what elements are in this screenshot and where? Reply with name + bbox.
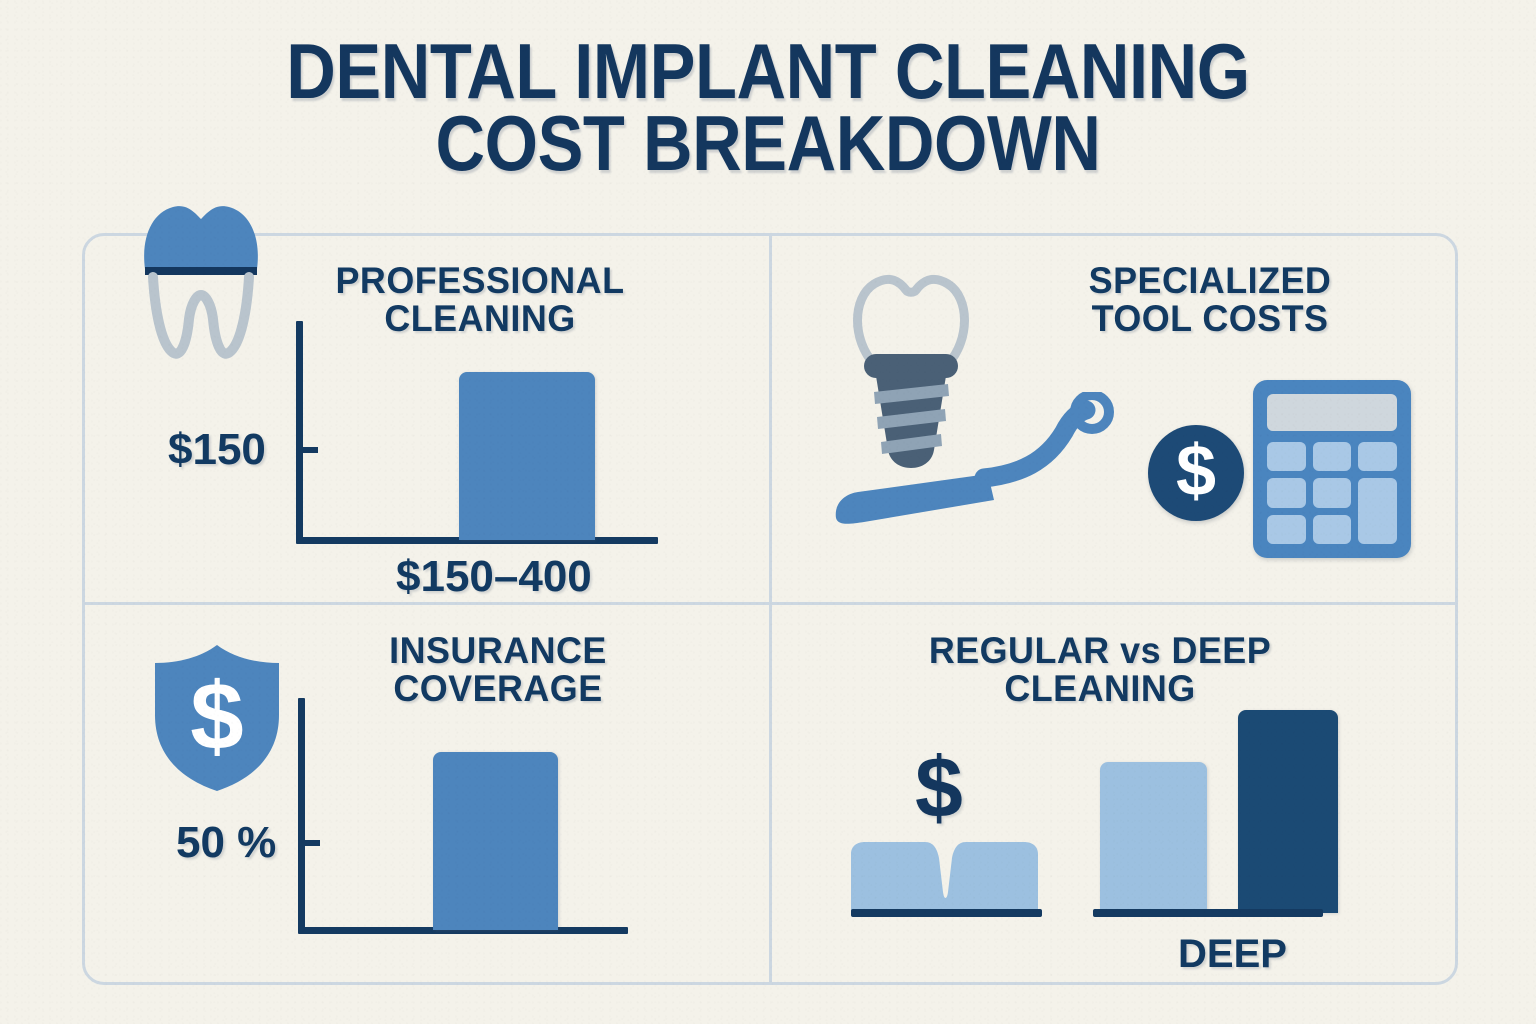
- gum-notch-icon: [851, 840, 1038, 912]
- calculator-key: [1267, 442, 1306, 471]
- panel-title-professional-cleaning: PROFESSIONAL CLEANING: [247, 262, 713, 338]
- grid-divider-vertical: [769, 236, 772, 982]
- y-axis-tick: [298, 840, 320, 846]
- calculator-key: [1313, 515, 1352, 544]
- svg-text:$: $: [190, 663, 243, 770]
- dollar-sign-glyph: $: [915, 745, 963, 831]
- coin-dollar-symbol: $: [1148, 425, 1244, 521]
- dental-scaler-icon: [828, 392, 1158, 542]
- page-title: DENTAL IMPLANT CLEANING COST BREAKDOWN: [92, 36, 1444, 180]
- calculator-key: [1313, 442, 1352, 471]
- calculator-key: [1267, 515, 1306, 544]
- x-axis-label-deep: DEEP: [1178, 932, 1287, 977]
- y-axis-label-price: $150: [168, 425, 266, 475]
- y-axis-label-percent: 50 %: [176, 818, 276, 868]
- bar-insurance-coverage: [433, 752, 558, 930]
- gum-baseline: [851, 909, 1042, 917]
- x-axis-label-price-range: $150–400: [396, 552, 592, 602]
- panel-title-regular-vs-deep: REGULAR vs DEEP CLEANING: [877, 632, 1323, 708]
- bar-deep-cleaning: [1238, 710, 1338, 913]
- y-axis-tick: [296, 447, 318, 453]
- calculator-icon: [1253, 380, 1411, 558]
- shield-dollar-icon: $: [147, 637, 287, 795]
- calculator-screen: [1267, 394, 1397, 431]
- bar-regular-cleaning: [1100, 762, 1207, 912]
- calculator-key-tall: [1358, 478, 1397, 544]
- y-axis-line: [298, 698, 305, 933]
- panel-title-insurance-coverage: INSURANCE COVERAGE: [275, 632, 721, 708]
- dollar-coin-icon: $: [1148, 425, 1244, 521]
- calculator-keypad: [1267, 442, 1397, 544]
- bar-professional-cleaning: [459, 372, 595, 540]
- calculator-key: [1358, 442, 1397, 471]
- calculator-key: [1313, 478, 1352, 507]
- calculator-key: [1267, 478, 1306, 507]
- panel-title-specialized-tool-costs: SPECIALIZED TOOL COSTS: [1006, 262, 1413, 338]
- y-axis-line: [296, 321, 303, 543]
- infographic-canvas: DENTAL IMPLANT CLEANING COST BREAKDOWN P…: [0, 0, 1536, 1024]
- grid-divider-horizontal: [85, 602, 1455, 605]
- bars-baseline: [1093, 909, 1323, 917]
